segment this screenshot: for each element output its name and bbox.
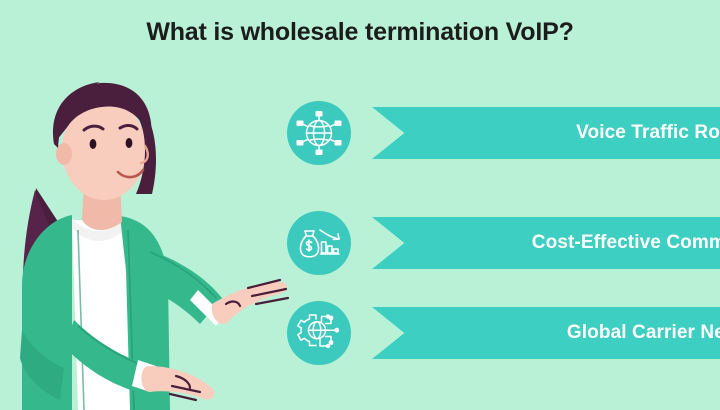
feature-banner xyxy=(333,307,720,359)
feature-banner xyxy=(333,107,720,159)
page-title: What is wholesale termination VoIP? xyxy=(0,18,720,47)
infographic-canvas: What is wholesale termination VoIP? xyxy=(0,0,720,410)
feature-banner xyxy=(333,217,720,269)
globe-network-icon xyxy=(287,101,351,165)
woman-presenting-illustration xyxy=(0,70,290,410)
money-bag-chart-icon xyxy=(287,211,351,275)
gear-circuit-globe-icon xyxy=(287,301,351,365)
